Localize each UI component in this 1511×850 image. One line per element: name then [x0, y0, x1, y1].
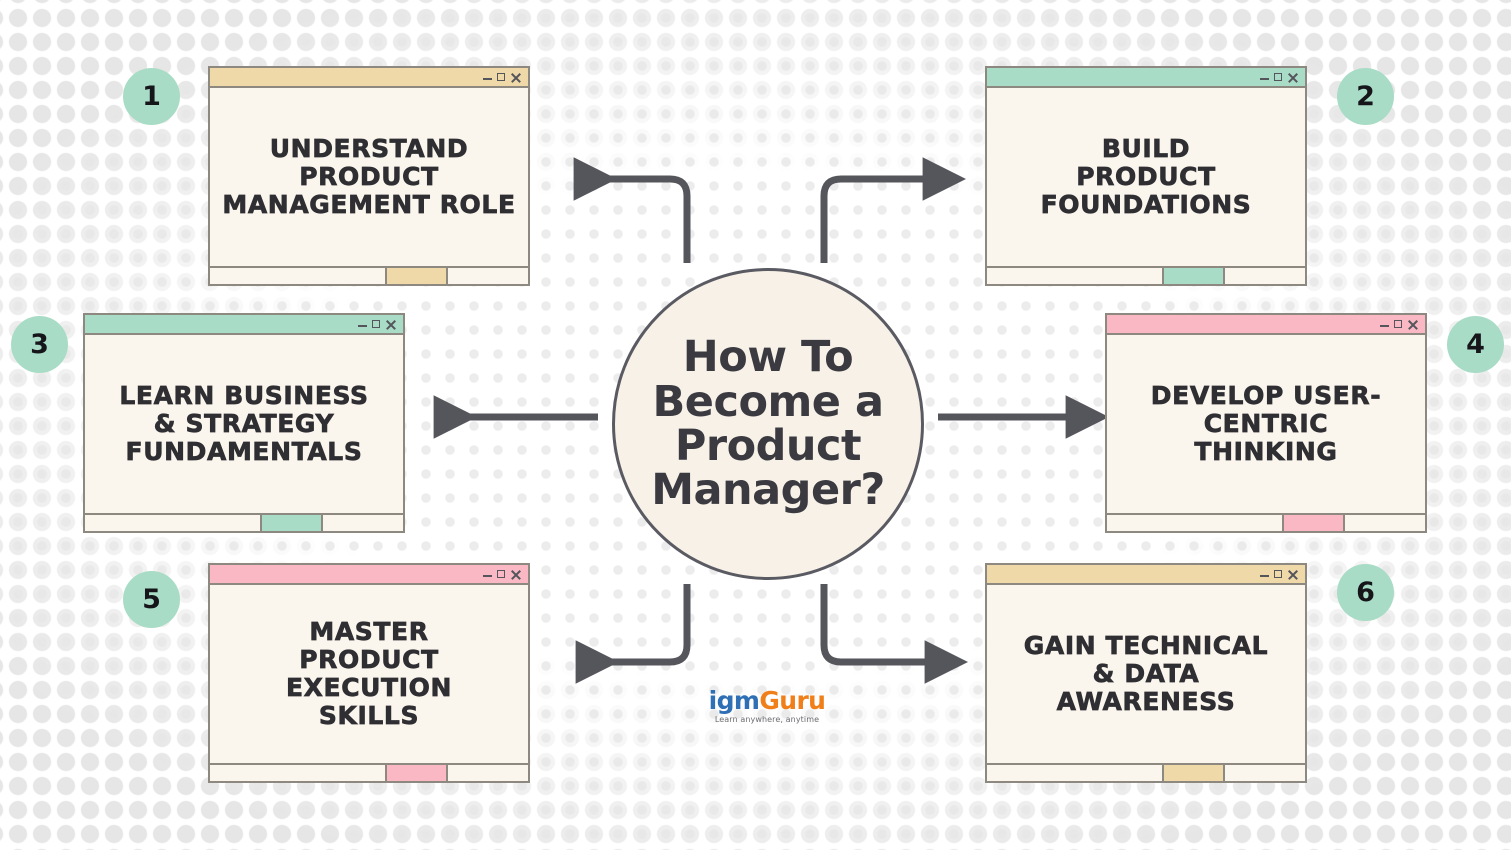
step-card-4[interactable]: DEVELOP USER- CENTRIC THINKING [1105, 313, 1427, 533]
card-footbar [210, 266, 528, 284]
step-card-label: DEVELOP USER- CENTRIC THINKING [1151, 382, 1381, 466]
footbar-segment-left [1107, 515, 1282, 531]
footbar-segment-right [1225, 268, 1305, 284]
maximize-icon[interactable] [497, 570, 505, 578]
maximize-icon[interactable] [1274, 570, 1282, 578]
step-card-6[interactable]: GAIN TECHNICAL & DATA AWARENESS [985, 563, 1307, 783]
footbar-segment-left [210, 268, 385, 284]
step-badge-number: 5 [142, 584, 161, 615]
maximize-icon[interactable] [497, 73, 505, 81]
card-body: UNDERSTAND PRODUCT MANAGEMENT ROLE [210, 88, 528, 266]
minimize-icon[interactable] [1260, 78, 1269, 80]
card-body: LEARN BUSINESS & STRATEGY FUNDAMENTALS [85, 335, 403, 513]
step-card-5[interactable]: MASTER PRODUCT EXECUTION SKILLS [208, 563, 530, 783]
window-controls[interactable] [483, 72, 521, 83]
maximize-icon[interactable] [1394, 320, 1402, 328]
step-badge-1: 1 [123, 68, 180, 125]
card-body: BUILD PRODUCT FOUNDATIONS [987, 88, 1305, 266]
minimize-icon[interactable] [483, 78, 492, 80]
footbar-accent-segment [385, 268, 449, 284]
step-card-label: BUILD PRODUCT FOUNDATIONS [1041, 135, 1252, 219]
step-card-label: UNDERSTAND PRODUCT MANAGEMENT ROLE [222, 135, 515, 219]
footbar-accent-segment [1162, 765, 1226, 781]
step-card-3[interactable]: LEARN BUSINESS & STRATEGY FUNDAMENTALS [83, 313, 405, 533]
logo-text-guru: Guru [759, 686, 825, 715]
window-controls[interactable] [1380, 319, 1418, 330]
page-title: How To Become a Product Manager? [651, 335, 885, 512]
arrow-to-step-2 [824, 179, 931, 263]
close-icon[interactable] [510, 569, 521, 580]
card-footbar [1107, 513, 1425, 531]
window-controls[interactable] [1260, 569, 1298, 580]
infographic-canvas: UNDERSTAND PRODUCT MANAGEMENT ROLE 1 BUI… [0, 0, 1511, 850]
maximize-icon[interactable] [1274, 73, 1282, 81]
card-footbar [85, 513, 403, 531]
step-card-label: LEARN BUSINESS & STRATEGY FUNDAMENTALS [119, 382, 368, 466]
footbar-segment-left [210, 765, 385, 781]
maximize-icon[interactable] [372, 320, 380, 328]
footbar-segment-left [987, 268, 1162, 284]
arrow-to-step-1 [582, 179, 687, 263]
step-badge-number: 3 [30, 329, 49, 360]
card-body: GAIN TECHNICAL & DATA AWARENESS [987, 585, 1305, 763]
step-badge-5: 5 [123, 571, 180, 628]
footbar-accent-segment [1162, 268, 1226, 284]
footbar-segment-right [448, 765, 528, 781]
step-badge-number: 4 [1466, 329, 1485, 360]
logo-text-igm: igm [709, 686, 760, 715]
footbar-segment-right [323, 515, 403, 531]
card-footbar [987, 266, 1305, 284]
footbar-accent-segment [260, 515, 324, 531]
window-controls[interactable] [358, 319, 396, 330]
step-badge-number: 6 [1356, 577, 1375, 608]
footbar-segment-left [987, 765, 1162, 781]
card-titlebar [987, 565, 1305, 585]
card-body: MASTER PRODUCT EXECUTION SKILLS [210, 585, 528, 763]
step-badge-4: 4 [1447, 316, 1504, 373]
close-icon[interactable] [1287, 569, 1298, 580]
logo-tagline: Learn anywhere, anytime [697, 715, 837, 724]
card-titlebar [210, 68, 528, 88]
minimize-icon[interactable] [358, 325, 367, 327]
footbar-segment-right [1225, 765, 1305, 781]
step-badge-number: 2 [1356, 81, 1375, 112]
brand-logo: igmGuru Learn anywhere, anytime [697, 688, 837, 724]
card-titlebar [210, 565, 528, 585]
close-icon[interactable] [510, 72, 521, 83]
footbar-accent-segment [1282, 515, 1346, 531]
footbar-segment-right [1345, 515, 1425, 531]
step-badge-number: 1 [142, 81, 161, 112]
close-icon[interactable] [385, 319, 396, 330]
card-body: DEVELOP USER- CENTRIC THINKING [1107, 335, 1425, 513]
step-badge-6: 6 [1337, 564, 1394, 621]
step-card-1[interactable]: UNDERSTAND PRODUCT MANAGEMENT ROLE [208, 66, 530, 286]
center-circle: How To Become a Product Manager? [612, 268, 924, 580]
step-card-label: GAIN TECHNICAL & DATA AWARENESS [1024, 632, 1268, 716]
footbar-segment-right [448, 268, 528, 284]
card-footbar [987, 763, 1305, 781]
window-controls[interactable] [483, 569, 521, 580]
close-icon[interactable] [1287, 72, 1298, 83]
footbar-accent-segment [385, 765, 449, 781]
minimize-icon[interactable] [483, 575, 492, 577]
card-titlebar [85, 315, 403, 335]
window-controls[interactable] [1260, 72, 1298, 83]
card-footbar [210, 763, 528, 781]
minimize-icon[interactable] [1380, 325, 1389, 327]
footbar-segment-left [85, 515, 260, 531]
step-card-2[interactable]: BUILD PRODUCT FOUNDATIONS [985, 66, 1307, 286]
minimize-icon[interactable] [1260, 575, 1269, 577]
close-icon[interactable] [1407, 319, 1418, 330]
card-titlebar [1107, 315, 1425, 335]
arrow-to-step-6 [824, 584, 933, 662]
step-badge-2: 2 [1337, 68, 1394, 125]
step-card-label: MASTER PRODUCT EXECUTION SKILLS [286, 618, 452, 730]
logo-wordmark: igmGuru [697, 688, 837, 713]
arrow-to-step-5 [584, 584, 687, 662]
card-titlebar [987, 68, 1305, 88]
step-badge-3: 3 [11, 316, 68, 373]
